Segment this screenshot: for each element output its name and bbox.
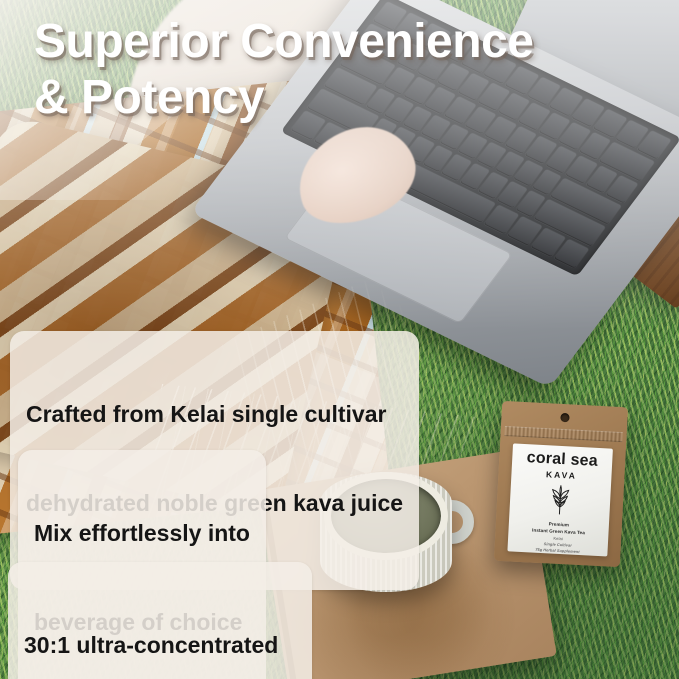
label-line-cultivar-type: Single Cultivar (544, 542, 572, 547)
callout-concentration-line-1: 30:1 ultra-concentrated (24, 631, 296, 661)
marketing-image: coral sea KAVA Premium I (0, 0, 679, 679)
kava-leaf-icon (546, 484, 574, 520)
label-line-product: Instant Green Kava Tea (532, 528, 585, 536)
callout-concentration: 30:1 ultra-concentrated water based kava… (8, 562, 312, 679)
label-line-cultivar-name: Kelai (553, 536, 563, 541)
label-line-premium: Premium (549, 521, 570, 527)
pouch-hang-hole (560, 413, 569, 422)
callout-mix-line-1: Mix effortlessly into (34, 519, 250, 549)
product-label: coral sea KAVA Premium I (507, 443, 613, 556)
brand-subtitle: KAVA (546, 469, 577, 481)
callout-crafted-line-1: Crafted from Kelai single cultivar (26, 400, 403, 430)
product-pouch: coral sea KAVA Premium I (494, 401, 628, 567)
brand-name: coral sea (526, 450, 598, 470)
label-line-weight: 75g Herbal Supplement (535, 548, 579, 554)
pouch-seal (504, 426, 622, 442)
